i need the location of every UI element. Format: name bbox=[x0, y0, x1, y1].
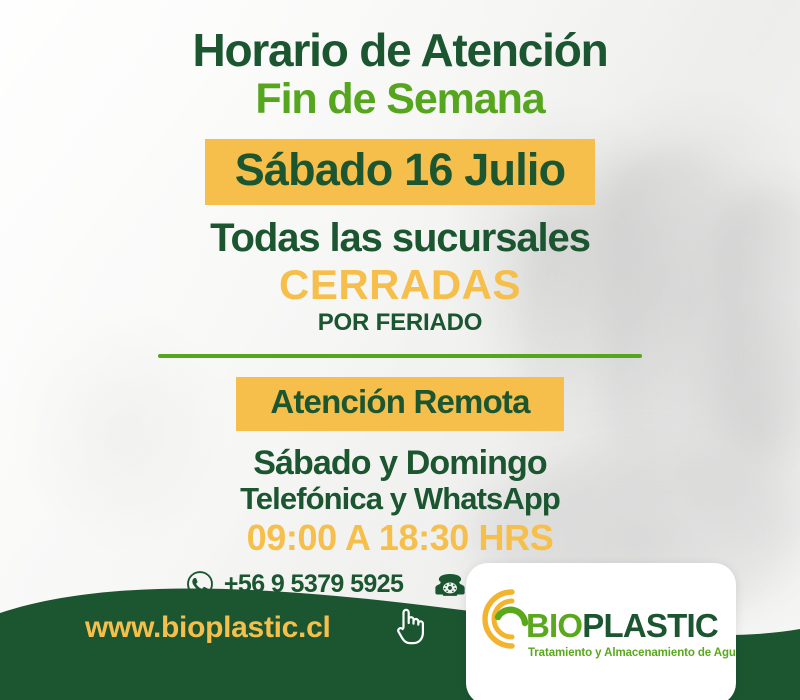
logo-word-plastic: PLASTIC bbox=[582, 607, 718, 644]
holiday-reason: POR FERIADO bbox=[0, 309, 800, 337]
service-hours: 09:00 A 18:30 HRS bbox=[0, 518, 800, 558]
closed-headline: CERRADAS bbox=[0, 261, 800, 308]
promo-poster: Horario de Atención Fin de Semana Sábado… bbox=[0, 0, 800, 700]
footer: www.bioplastic.cl BIOPLASTIC Tratamien bbox=[0, 575, 800, 700]
poster-title-secondary: Fin de Semana bbox=[0, 76, 800, 122]
logo-tagline: Tratamiento y Almacenamiento de Aguas bbox=[528, 647, 736, 659]
service-days: Sábado y Domingo bbox=[0, 444, 800, 482]
branches-line: Todas las sucursales bbox=[0, 216, 800, 260]
hand-pointer-icon bbox=[392, 605, 426, 650]
poster-content: Horario de Atención Fin de Semana Sábado… bbox=[0, 0, 800, 599]
poster-title-primary: Horario de Atención bbox=[0, 24, 800, 76]
remote-service-banner: Atención Remota bbox=[236, 377, 563, 431]
logo-wordmark: BIOPLASTIC bbox=[526, 609, 718, 643]
website-url[interactable]: www.bioplastic.cl bbox=[85, 611, 331, 645]
section-divider bbox=[158, 354, 642, 358]
title-block: Horario de Atención Fin de Semana bbox=[0, 0, 800, 122]
logo-word-bio: BIO bbox=[526, 607, 582, 644]
logo-card: BIOPLASTIC Tratamiento y Almacenamiento … bbox=[466, 563, 736, 700]
logo: BIOPLASTIC Tratamiento y Almacenamiento … bbox=[482, 583, 722, 675]
service-channels: Telefónica y WhatsApp bbox=[0, 482, 800, 516]
date-banner: Sábado 16 Julio bbox=[205, 139, 596, 205]
